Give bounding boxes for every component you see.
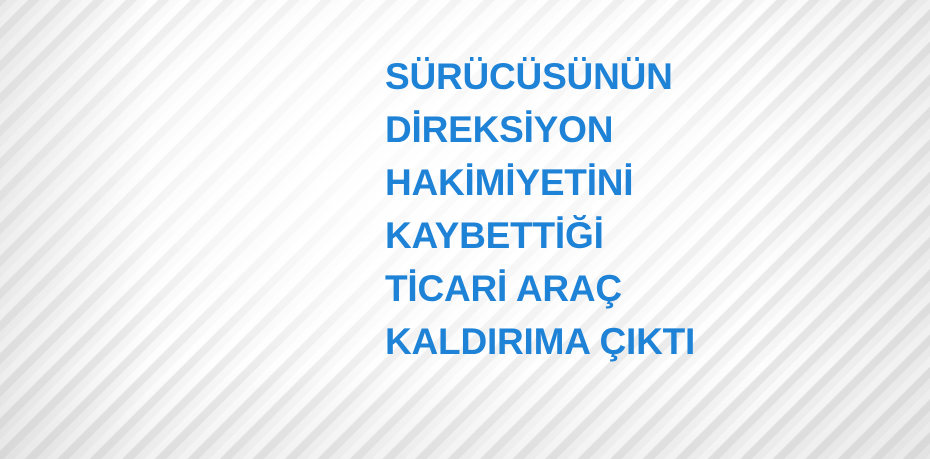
headline-line-6: KALDIRIMA ÇIKTI bbox=[385, 315, 865, 368]
headline-line-1: SÜRÜCÜSÜNÜN bbox=[385, 50, 865, 103]
headline-line-2: DİREKSİYON bbox=[385, 103, 865, 156]
headline-line-4: KAYBETTİĞİ bbox=[385, 209, 865, 262]
headline-line-5: TİCARİ ARAÇ bbox=[385, 262, 865, 315]
headline-line-3: HAKİMİYETİNİ bbox=[385, 156, 865, 209]
headline-text-block: SÜRÜCÜSÜNÜN DİREKSİYON HAKİMİYETİNİ KAYB… bbox=[385, 50, 865, 368]
news-headline-card: SÜRÜCÜSÜNÜN DİREKSİYON HAKİMİYETİNİ KAYB… bbox=[0, 0, 930, 459]
